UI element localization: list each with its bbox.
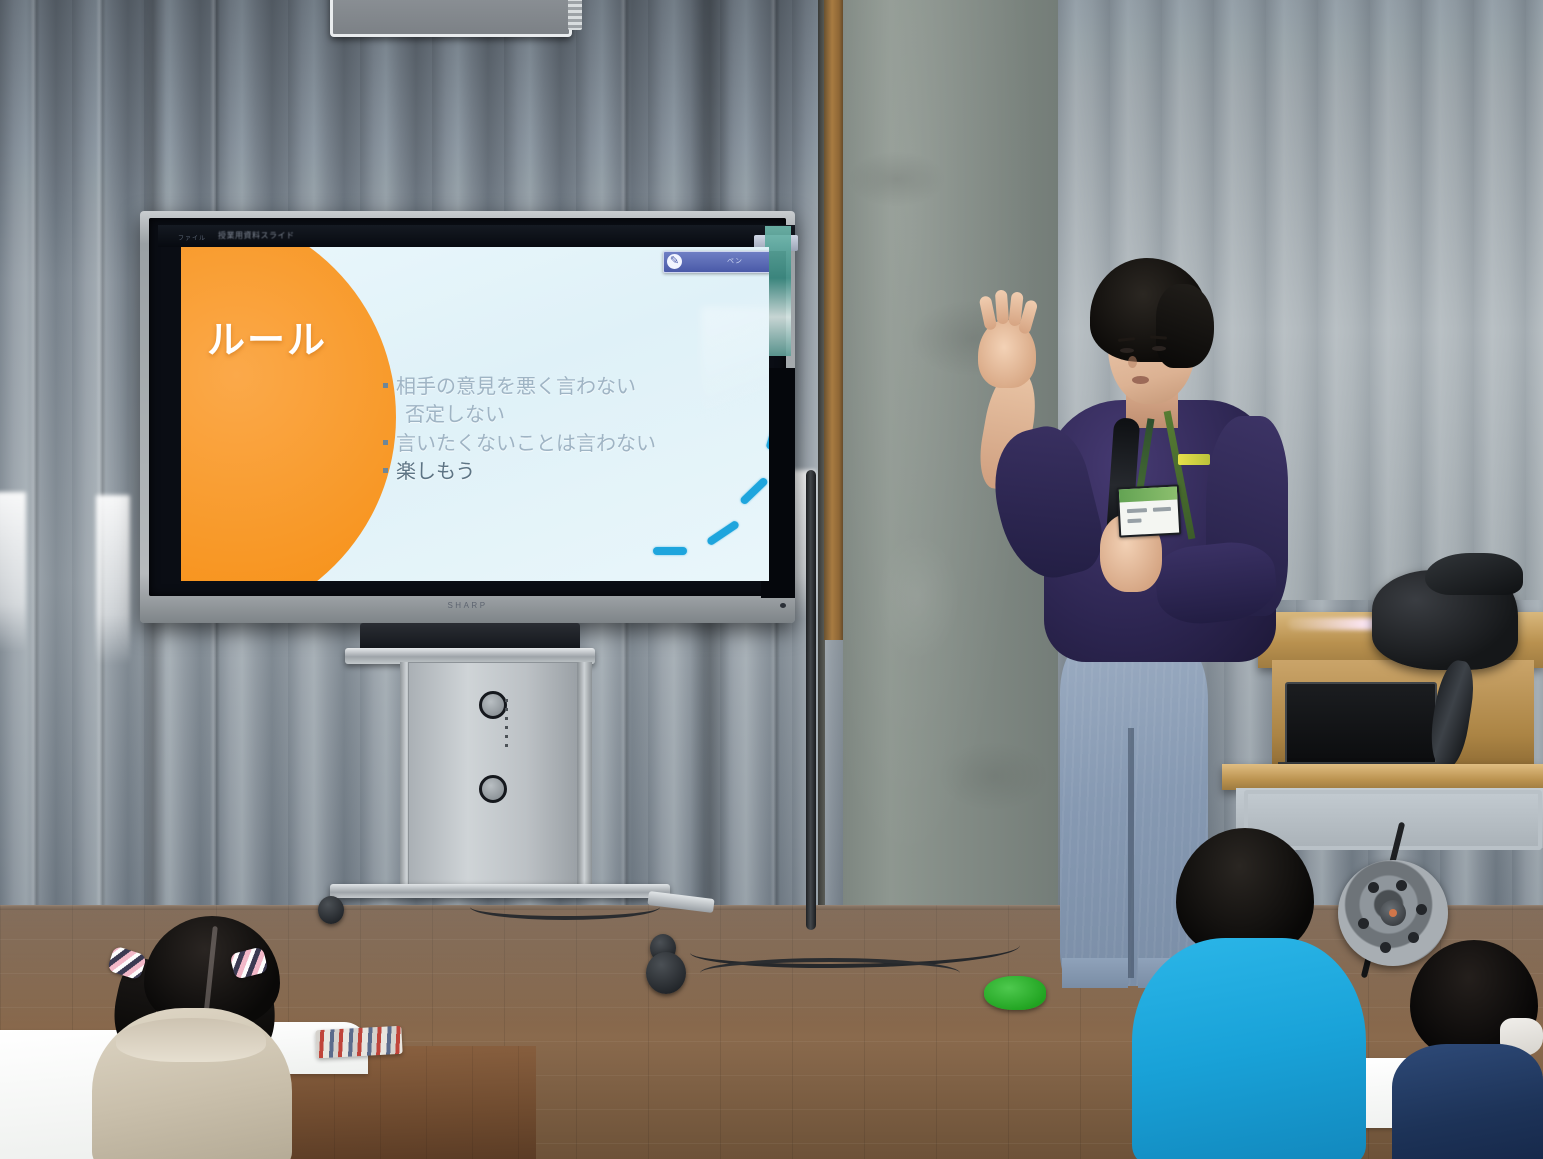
vertical-power-cable — [806, 470, 816, 930]
student-hair — [1176, 828, 1314, 956]
pen-stroke-1 — [653, 547, 687, 555]
student-navy-top — [1392, 1044, 1543, 1159]
display-brand-logo: SHARP — [447, 601, 487, 610]
pencil-case — [315, 1026, 402, 1058]
eye — [1152, 346, 1166, 351]
floor-cable — [700, 958, 960, 988]
screen-glare — [701, 307, 769, 437]
name-badge-text-line — [1127, 518, 1141, 523]
presenter-hair-side — [1156, 284, 1214, 368]
pen-stroke-2 — [706, 520, 740, 547]
laptop-computer[interactable] — [1285, 682, 1437, 768]
finger — [995, 290, 1009, 325]
presenter-green-slipper — [984, 976, 1046, 1010]
slide-orange-semicircle — [181, 247, 396, 581]
slide-title: ルール — [207, 309, 377, 364]
curtain-highlight — [96, 495, 130, 665]
av-cart-caster — [646, 952, 686, 994]
student-far-right-navy — [1392, 940, 1543, 1159]
name-badge-text-line — [1127, 508, 1147, 513]
av-cart-post — [578, 662, 592, 890]
cart-cable — [470, 894, 660, 920]
pen-annotation-icon[interactable]: ✎ — [667, 254, 682, 269]
display-mount-neck — [360, 623, 580, 651]
slide-bullet-3: 楽しもう — [381, 457, 761, 485]
pillar-wood-trim — [824, 0, 844, 640]
mouth — [1132, 376, 1149, 384]
display-bezel: ファイル 授業用資料スライド ルール 相手の意見を悪く言わない 否定しない 言い… — [149, 218, 786, 596]
name-badge — [1117, 484, 1182, 537]
titlebar-menu-hint[interactable]: ファイル — [178, 233, 206, 242]
ceiling-speaker-panel — [330, 0, 572, 37]
photo-scene: ファイル 授業用資料スライド ルール 相手の意見を悪く言わない 否定しない 言い… — [0, 0, 1543, 1159]
av-cart-knob[interactable] — [479, 775, 507, 803]
av-cart-cabinet — [408, 662, 578, 890]
curtain-highlight — [0, 492, 26, 652]
sweatshirt-chest-logo — [1178, 454, 1210, 465]
nose — [1128, 356, 1137, 368]
presentation-slide[interactable]: ルール 相手の意見を悪く言わない 否定しない 言いたくないことは言わない 楽しも… — [181, 247, 769, 581]
curtain-fold — [96, 0, 106, 940]
pen-toolbar-label: ペン — [727, 256, 743, 266]
av-cart-vent-slots — [505, 699, 508, 753]
display-power-led — [780, 603, 786, 608]
black-bag-flap — [1425, 553, 1523, 595]
hoodie-hood-fold — [116, 1018, 266, 1062]
titlebar-app-title: 授業用資料スライド — [218, 230, 295, 241]
application-titlebar: ファイル 授業用資料スライド — [158, 225, 795, 247]
pen-toolbar-overlay[interactable]: ✎ ペン — [663, 251, 769, 273]
student-cyan-top — [1132, 938, 1366, 1159]
presenter-raised-hand — [978, 320, 1036, 388]
av-cart-knob[interactable] — [479, 691, 507, 719]
student-right-cyan — [1118, 828, 1418, 1159]
student-front-left — [80, 900, 410, 1159]
name-badge-header — [1119, 487, 1178, 503]
curtain-fold — [30, 0, 40, 940]
wall-display-monitor[interactable]: ファイル 授業用資料スライド ルール 相手の意見を悪く言わない 否定しない 言い… — [140, 211, 795, 623]
eye — [1120, 348, 1134, 353]
name-badge-text-line — [1153, 507, 1171, 512]
